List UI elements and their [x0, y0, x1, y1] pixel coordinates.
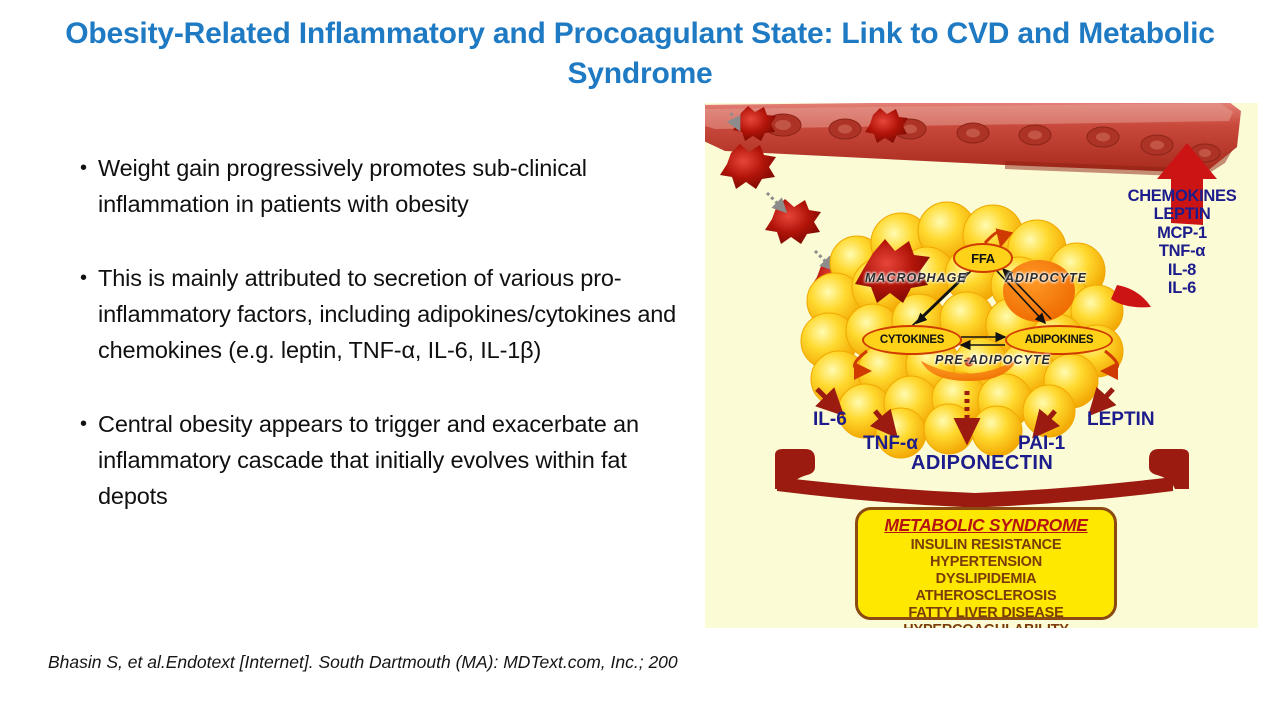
chemokine-label-list: CHEMOKINES LEPTIN MCP-1 TNF-α IL-8 IL-6: [1107, 187, 1257, 298]
blood-vessel-illustration: [705, 103, 1241, 177]
mediator-label-tnf-alpha: TNF-α: [863, 433, 918, 455]
bullet-text: Central obesity appears to trigger and e…: [98, 406, 682, 514]
chemokine-label: LEPTIN: [1107, 205, 1257, 223]
metabolic-syndrome-item: FATTY LIVER DISEASE: [858, 605, 1114, 622]
metabolic-syndrome-heading: METABOLIC SYNDROME: [858, 515, 1114, 537]
chemokine-label: MCP-1: [1107, 224, 1257, 242]
metabolic-syndrome-item: ATHEROSCLEROSIS: [858, 588, 1114, 605]
mediator-label-adiponectin: ADIPONECTIN: [911, 452, 1053, 475]
page-title: Obesity-Related Inflammatory and Procoag…: [60, 14, 1220, 94]
slide-canvas: Obesity-Related Inflammatory and Procoag…: [0, 0, 1280, 720]
node-label-pre-adipocyte: PRE-ADIPOCYTE: [935, 353, 1051, 367]
chemokine-label: IL-6: [1107, 279, 1257, 297]
bullet-marker-icon: •: [62, 406, 98, 514]
bullet-list: • Weight gain progressively promotes sub…: [62, 150, 682, 552]
metabolic-syndrome-item: HYPERTENSION: [858, 554, 1114, 571]
metabolic-syndrome-item: HYPERCOAGULABILITY: [858, 622, 1114, 628]
bullet-text: This is mainly attributed to secretion o…: [98, 260, 682, 368]
chemokine-label: CHEMOKINES: [1107, 187, 1257, 205]
node-label-macrophage: MACROPHAGE: [865, 271, 967, 285]
metabolic-syndrome-item: INSULIN RESISTANCE: [858, 537, 1114, 554]
node-label-ffa: FFA: [953, 243, 1013, 273]
list-item: • This is mainly attributed to secretion…: [62, 260, 682, 368]
chemokine-label: TNF-α: [1107, 242, 1257, 260]
bullet-marker-icon: •: [62, 260, 98, 368]
bullet-marker-icon: •: [62, 150, 98, 222]
node-label-adipokines: ADIPOKINES: [1005, 325, 1113, 355]
metabolic-syndrome-item: DYSLIPIDEMIA: [858, 571, 1114, 588]
mediator-label-pai1: PAI-1: [1018, 433, 1065, 455]
metabolic-syndrome-box: METABOLIC SYNDROME INSULIN RESISTANCE HY…: [855, 507, 1117, 620]
chemokine-label: IL-8: [1107, 261, 1257, 279]
node-label-adipocyte: ADIPOCYTE: [1005, 271, 1087, 285]
bullet-text: Weight gain progressively promotes sub-c…: [98, 150, 682, 222]
node-label-cytokines: CYTOKINES: [862, 325, 962, 355]
adipose-inflammation-figure: CHEMOKINES LEPTIN MCP-1 TNF-α IL-8 IL-6 …: [705, 103, 1258, 628]
list-item: • Weight gain progressively promotes sub…: [62, 150, 682, 222]
citation-text: Bhasin S, et al.Endotext [Internet]. Sou…: [48, 650, 738, 675]
mediator-label-il6: IL-6: [813, 409, 847, 431]
list-item: • Central obesity appears to trigger and…: [62, 406, 682, 514]
adipocyte-icon: [1003, 260, 1075, 322]
mediator-label-leptin: LEPTIN: [1087, 409, 1155, 431]
